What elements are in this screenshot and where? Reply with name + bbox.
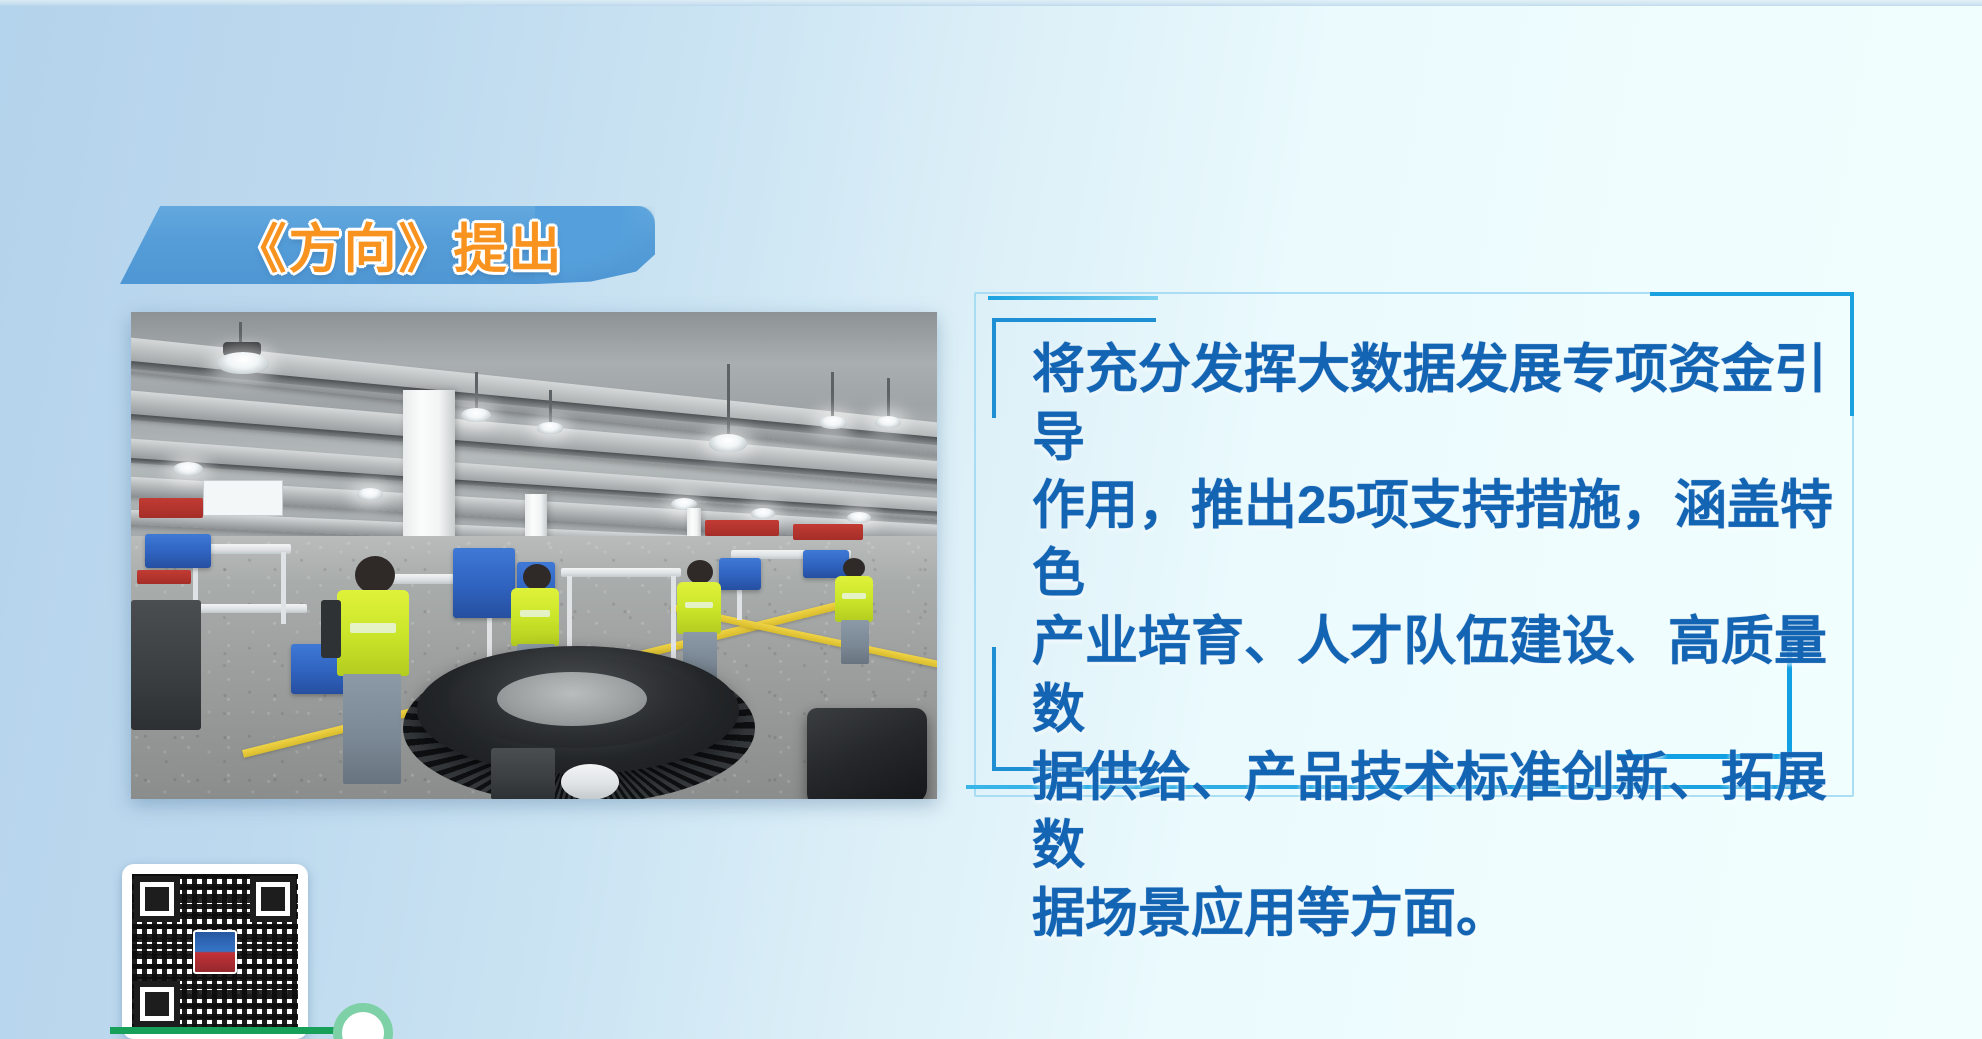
worker-vest <box>835 576 873 622</box>
banner-title-text: 《方向》提出 <box>120 206 655 284</box>
quote-line: 将充分发挥大数据发展专项资金引导 <box>1032 336 1836 472</box>
worker-vest <box>677 582 721 634</box>
worker-head <box>687 560 713 584</box>
wall-sign <box>203 480 283 516</box>
qr-code[interactable] <box>122 864 308 1039</box>
banner-sign <box>705 520 779 536</box>
tool-cabinet <box>131 600 201 730</box>
parts-bin <box>453 548 515 618</box>
bench-leg <box>671 576 676 658</box>
banner-sign <box>139 498 203 518</box>
lamp-rod <box>887 378 890 418</box>
robot-vacuum <box>807 708 927 799</box>
factory-photo <box>131 312 937 799</box>
broadcast-graphic-stage: 《方向》提出 <box>0 0 1982 1039</box>
qr-matrix <box>132 874 298 1029</box>
green-accent-ring <box>333 1003 393 1039</box>
pendant-lamp <box>709 434 747 452</box>
bench-leg <box>281 552 286 624</box>
worker-arm <box>321 600 341 658</box>
pendant-lamp <box>357 488 383 500</box>
workbench <box>189 604 307 613</box>
pendant-lamp <box>217 352 269 374</box>
pendant-lamp <box>537 422 563 434</box>
lamp-rod <box>475 372 478 410</box>
pendant-lamp <box>751 508 775 519</box>
quote-line: 作用，推出25项支持措施，涵盖特色 <box>1032 472 1836 608</box>
qr-finder-top-right <box>250 876 296 922</box>
worker-legs <box>343 674 401 784</box>
lamp-rod <box>727 364 730 436</box>
quote-text: 将充分发挥大数据发展专项资金引导 作用，推出25项支持措施，涵盖特色 产业培育、… <box>1032 336 1836 948</box>
quote-line: 据供给、产品技术标准创新、拓展数 <box>1032 744 1836 880</box>
cabinet-stripe <box>137 570 191 584</box>
qr-finder-bottom-left <box>134 981 180 1027</box>
quote-line: 据场景应用等方面。 <box>1032 880 1836 948</box>
qr-center-logo <box>193 930 237 974</box>
gear-hub <box>497 672 647 726</box>
green-accent-bar <box>110 1027 338 1034</box>
pendant-lamp <box>461 408 491 422</box>
pendant-lamp <box>847 512 871 523</box>
machine-part <box>561 764 619 799</box>
parts-bin <box>803 550 849 578</box>
worker-head <box>523 564 551 590</box>
banner-sign <box>793 524 863 540</box>
lamp-rod <box>239 322 242 344</box>
lamp-rod <box>549 390 552 424</box>
parts-bin <box>719 558 761 590</box>
pendant-lamp <box>819 416 847 429</box>
worker-vest <box>337 590 409 676</box>
worker-vest <box>511 588 559 646</box>
quote-line: 产业培育、人才队伍建设、高质量数 <box>1032 608 1836 744</box>
top-hairline <box>0 0 1982 6</box>
pendant-lamp <box>173 462 203 476</box>
pendant-lamp <box>875 416 901 428</box>
lamp-rod <box>831 372 834 418</box>
parts-bin <box>145 534 211 568</box>
workbench <box>561 568 681 577</box>
title-banner: 《方向》提出 <box>120 206 655 284</box>
qr-finder-top-left <box>134 876 180 922</box>
worker-head <box>355 556 395 594</box>
machine-part <box>491 748 555 799</box>
panel-top-left-rule <box>988 296 1158 300</box>
quote-panel: 将充分发挥大数据发展专项资金引导 作用，推出25项支持措施，涵盖特色 产业培育、… <box>966 292 1854 797</box>
worker-head <box>843 558 865 578</box>
worker-legs <box>841 620 869 664</box>
